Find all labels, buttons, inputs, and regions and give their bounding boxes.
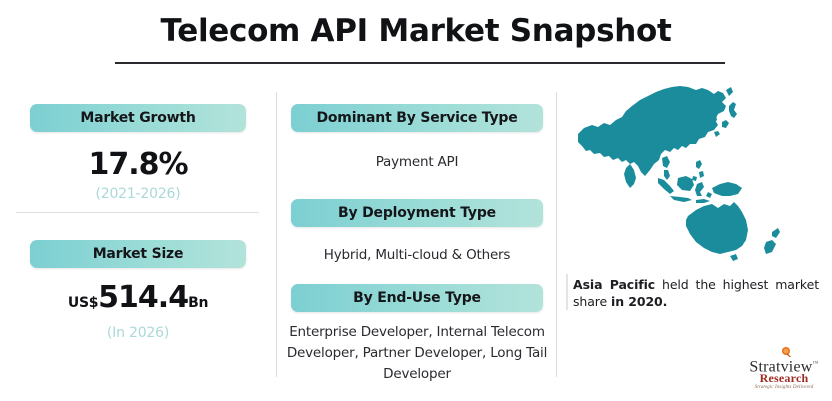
deployment-type-pill: By Deployment Type [291, 199, 543, 227]
logo-trademark: ™ [813, 361, 819, 367]
vertical-divider-right [556, 92, 557, 377]
service-type-pill-label: Dominant By Service Type [316, 110, 517, 126]
end-use-type-pill-label: By End-Use Type [353, 290, 481, 306]
title-underline-rule [115, 62, 725, 64]
deployment-type-pill-label: By Deployment Type [338, 205, 496, 221]
page-title-wrapper: Telecom API Market Snapshot [0, 12, 832, 50]
end-use-type-pill: By End-Use Type [291, 284, 543, 312]
market-size-year: (In 2026) [15, 325, 261, 341]
logo-tagline: Strategic Insights Delivered [742, 385, 826, 390]
stratview-research-logo: Stratview™ Research Strategic Insights D… [742, 346, 826, 394]
end-use-type-value: Enterprise Developer, Internal Telecom D… [283, 322, 551, 385]
region-caption: Asia Pacific held the highest market sha… [573, 276, 819, 310]
infographic-root: Telecom API Market Snapshot Market Growt… [0, 0, 832, 401]
market-growth-pill: Market Growth [30, 104, 246, 132]
market-growth-value: 17.8% [15, 148, 261, 182]
market-size-pill-label: Market Size [93, 246, 184, 262]
region-caption-emphasis: in 2020. [611, 294, 667, 309]
caption-accent-bar [566, 274, 568, 310]
market-size-unit: Bn [188, 286, 208, 320]
market-size-value: US$ 514.4 Bn [15, 281, 261, 320]
market-size-currency: US$ [68, 286, 98, 320]
market-growth-period: (2021-2026) [15, 186, 261, 202]
market-size-number: 514.4 [98, 281, 188, 315]
market-size-pill: Market Size [30, 240, 246, 268]
service-type-pill: Dominant By Service Type [291, 104, 543, 132]
logo-subname: Research [742, 372, 826, 385]
vertical-divider-left [276, 92, 277, 377]
horizontal-divider-left-column [16, 212, 259, 213]
service-type-value: Payment API [283, 152, 551, 173]
region-caption-lead: Asia Pacific [573, 277, 655, 292]
page-title: Telecom API Market Snapshot [0, 12, 832, 50]
deployment-type-value: Hybrid, Multi-cloud & Others [283, 245, 551, 266]
asia-pacific-map-icon [566, 84, 822, 264]
market-growth-pill-label: Market Growth [80, 110, 195, 126]
